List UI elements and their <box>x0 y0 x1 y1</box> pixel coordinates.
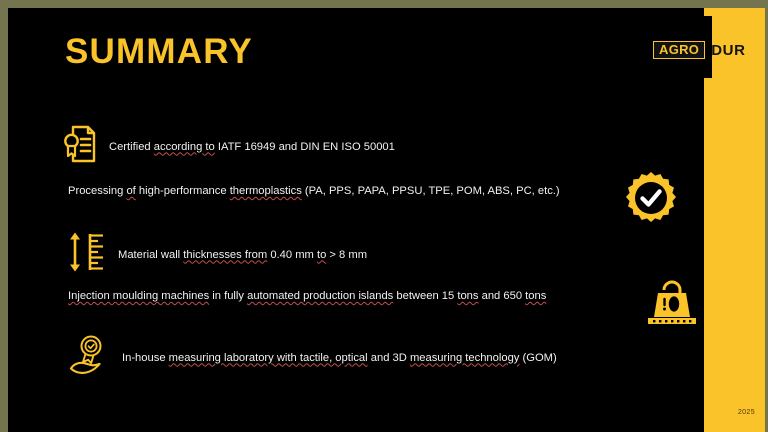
certificate-icon <box>63 124 97 169</box>
list-item-label: Processing of high-performance thermopla… <box>68 184 560 198</box>
list-item: Processing of high-performance thermopla… <box>68 184 560 198</box>
agro-dur-logo: AGRO DUR <box>653 41 746 59</box>
list-item-label: Certified according to IATF 16949 and DI… <box>109 140 395 154</box>
injection-press-conveyor-icon <box>644 274 700 335</box>
wall-thickness-ruler-icon <box>66 230 108 279</box>
list-item-label: Injection moulding machines in fully aut… <box>68 289 546 303</box>
list-item: Certified according to IATF 16949 and DI… <box>63 124 395 169</box>
list-item-label: Material wall thicknesses from 0.40 mm t… <box>118 248 367 262</box>
presentation-slide: 2025 AGRO DUR SUMMARY <box>8 8 765 432</box>
slide-frame: 2025 AGRO DUR SUMMARY <box>0 0 768 432</box>
list-item-label: In-house measuring laboratory with tacti… <box>122 351 557 365</box>
list-item: In-house measuring laboratory with tacti… <box>68 333 557 382</box>
list-item: Material wall thicknesses from 0.40 mm t… <box>66 230 367 279</box>
logo-dur-word: DUR <box>711 43 745 58</box>
quality-award-hand-icon <box>68 333 114 382</box>
list-item: Injection moulding machines in fully aut… <box>68 289 546 303</box>
logo-agro-mark: AGRO <box>653 41 705 59</box>
check-badge-icon <box>623 170 679 231</box>
